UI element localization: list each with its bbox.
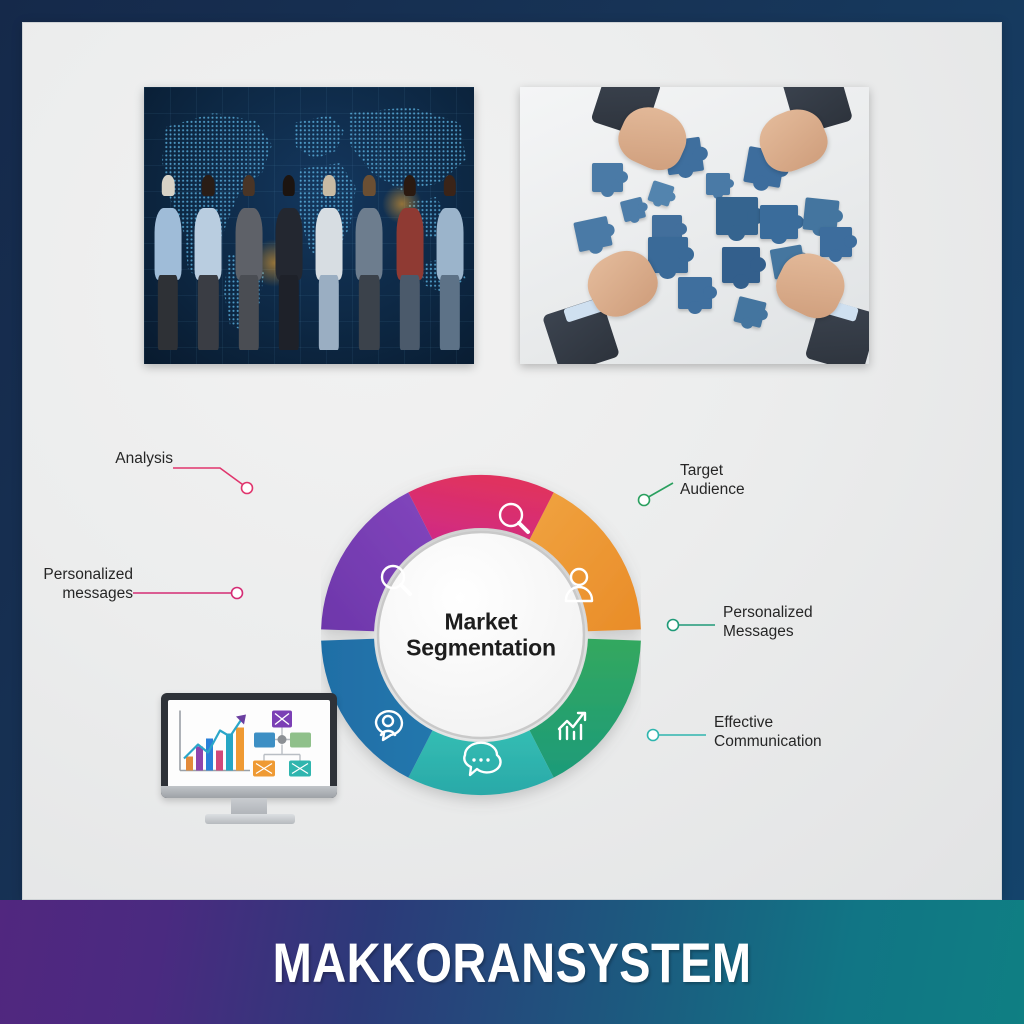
- callout-effective-communication: Effective Communication: [714, 713, 914, 751]
- donut-chart: Market Segmentation: [321, 435, 641, 835]
- poster-root: Market Segmentation Analysis Personalize…: [0, 0, 1024, 1024]
- photo-diverse-business-team: [144, 87, 474, 364]
- person-figure: [152, 178, 185, 350]
- person-figure: [272, 178, 305, 350]
- market-segmentation-diagram: Market Segmentation Analysis Personalize…: [23, 413, 1002, 883]
- bottom-title-banner: MAKKORANSYSTEM: [0, 900, 1024, 1024]
- callout-analysis: Analysis: [23, 449, 173, 468]
- flow-node: [290, 733, 311, 748]
- banner-title-text: MAKKORANSYSTEM: [273, 930, 752, 995]
- person-figure: [393, 178, 426, 350]
- desktop-monitor-illustration: [143, 693, 343, 828]
- person-figure: [192, 178, 225, 350]
- segment-personalized-messages-pink: [408, 475, 553, 540]
- person-figure: [232, 178, 265, 350]
- monitor-bezel: [161, 693, 337, 798]
- callout-personalized-messages-left: Personalized messages: [23, 565, 133, 603]
- flow-node: [254, 733, 275, 748]
- puzzle-piece: [678, 277, 712, 309]
- callout-target-audience: Target Audience: [680, 461, 860, 499]
- center-line-2: Segmentation: [396, 635, 566, 661]
- photo-hands-assembling-puzzle: [520, 87, 869, 364]
- trend-arrowhead: [236, 715, 246, 725]
- bar: [236, 728, 244, 771]
- puzzle-piece: [760, 205, 798, 239]
- bar: [216, 751, 223, 771]
- donut-center-label: Market Segmentation: [396, 609, 566, 661]
- bar: [196, 747, 203, 771]
- puzzle-piece: [706, 173, 730, 195]
- screen-graphics: [168, 700, 330, 789]
- person-figure: [353, 178, 386, 350]
- bar: [186, 757, 193, 771]
- monitor-lower-bezel: [161, 786, 337, 798]
- puzzle-piece: [648, 237, 688, 273]
- puzzle-piece: [592, 163, 623, 192]
- puzzle-piece: [820, 227, 852, 257]
- slide-card: Market Segmentation Analysis Personalize…: [22, 22, 1002, 900]
- person-figure: [433, 178, 466, 350]
- monitor-screen: [168, 700, 330, 789]
- monitor-stand-base: [205, 814, 295, 824]
- puzzle-piece: [722, 247, 760, 283]
- puzzle-piece: [716, 197, 758, 235]
- person-figure: [313, 178, 346, 350]
- segment-effective-communication-teal: [408, 730, 553, 795]
- people-group: [144, 178, 474, 350]
- center-line-1: Market: [396, 609, 566, 635]
- callout-personalized-messages-right: Personalized Messages: [723, 603, 923, 641]
- bar: [226, 734, 233, 771]
